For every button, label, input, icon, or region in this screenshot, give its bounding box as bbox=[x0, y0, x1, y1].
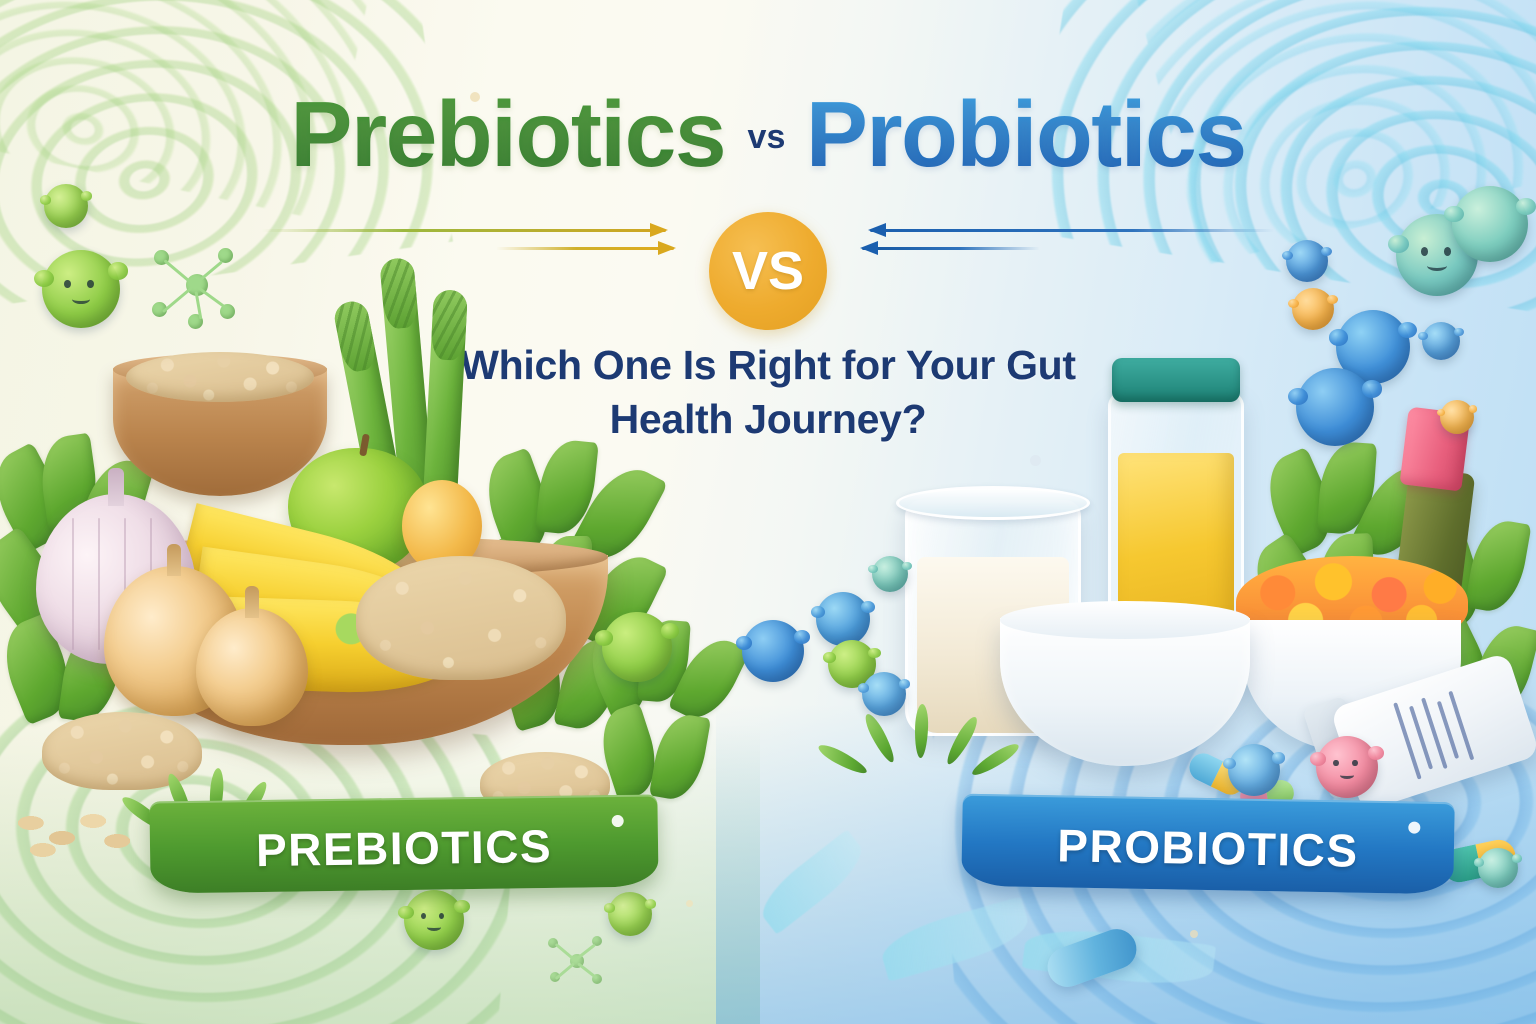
kefir-jar bbox=[905, 500, 1081, 736]
kimchi-contents bbox=[1236, 556, 1468, 648]
infographic-poster: Prebiotics vs Probiotics VS Which One Is… bbox=[0, 0, 1536, 1024]
vs-badge-label: VS bbox=[732, 240, 804, 302]
oats-mound-in-bowl bbox=[356, 556, 566, 680]
microbe-face bbox=[1316, 736, 1378, 798]
arrow-right-lower bbox=[862, 247, 1040, 250]
yellow-fruit bbox=[402, 480, 482, 572]
versus-divider: VS bbox=[0, 200, 1536, 310]
supplement-bottle-lid bbox=[1302, 696, 1374, 801]
grain-mound-small bbox=[126, 352, 314, 402]
feather bbox=[877, 896, 1034, 982]
poster-headline: Prebiotics vs Probiotics bbox=[0, 88, 1536, 181]
garlic-bulb bbox=[36, 494, 196, 664]
speck bbox=[1030, 455, 1041, 466]
molecule-sprig bbox=[548, 932, 604, 988]
probiotics-banner: PROBIOTICS bbox=[961, 794, 1455, 895]
blue-microbe-character bbox=[742, 620, 804, 682]
teal-microbe-character bbox=[1478, 848, 1518, 888]
green-microbe-character bbox=[602, 612, 672, 682]
green-sprig-right bbox=[852, 696, 1002, 776]
prebiotics-banner: PREBIOTICS bbox=[149, 794, 658, 893]
green-apple bbox=[288, 448, 428, 574]
green-peas bbox=[330, 602, 462, 658]
banana bbox=[212, 596, 465, 696]
kefir-jar-rim bbox=[896, 486, 1090, 520]
leafy-greens-far-right bbox=[1420, 520, 1536, 750]
arrow-right-upper bbox=[870, 229, 1274, 232]
blue-microbe-character bbox=[862, 672, 906, 716]
oats-mound-left bbox=[42, 712, 202, 790]
onion bbox=[104, 566, 244, 716]
kimchi-bowl bbox=[1243, 620, 1461, 752]
blue-microbe-character bbox=[816, 592, 870, 646]
green-microbe-character bbox=[608, 892, 652, 936]
oat-flakes-scattered bbox=[14, 808, 134, 858]
kombucha-bottle-cap bbox=[1112, 358, 1240, 402]
leafy-greens-right bbox=[1258, 440, 1468, 720]
blue-microbe-character bbox=[1228, 744, 1280, 796]
speck bbox=[1190, 930, 1198, 938]
kombucha-bottle bbox=[1108, 392, 1244, 692]
feather bbox=[752, 829, 871, 934]
wooden-bowl bbox=[88, 555, 608, 745]
probiotics-banner-label: PROBIOTICS bbox=[1057, 818, 1359, 877]
arrow-left-lower bbox=[496, 247, 674, 250]
yogurt-surface bbox=[1012, 612, 1238, 646]
headline-probiotics: Probiotics bbox=[806, 88, 1246, 181]
small-grain-bowl bbox=[113, 368, 327, 496]
blue-microbe-character bbox=[1296, 368, 1374, 446]
leafy-greens-far-right-of-bowl bbox=[588, 620, 748, 820]
blue-capsule-on-wave bbox=[1042, 923, 1142, 992]
orange-microbe-character bbox=[1440, 400, 1474, 434]
green-microbe-character bbox=[404, 890, 464, 950]
yogurt-bowl bbox=[1000, 618, 1250, 766]
speck bbox=[630, 925, 639, 934]
blue-microbe-character bbox=[1336, 310, 1410, 384]
pink-microbe-character bbox=[1316, 736, 1378, 798]
poster-subtitle: Which One Is Right for Your Gut Health J… bbox=[448, 338, 1088, 446]
arrow-left-upper bbox=[262, 229, 666, 232]
prebiotics-banner-label: PREBIOTICS bbox=[256, 819, 553, 877]
vs-badge: VS bbox=[709, 212, 827, 330]
headline-vs-small: vs bbox=[748, 120, 786, 154]
leafy-greens-left bbox=[0, 430, 200, 730]
fermented-drink-bottle-cap bbox=[1399, 407, 1470, 492]
fermented-drink-bottle bbox=[1387, 467, 1476, 664]
capsule-pill bbox=[1185, 749, 1249, 800]
headline-prebiotics: Prebiotics bbox=[290, 88, 725, 181]
asparagus-spear bbox=[332, 299, 406, 516]
green-microbe-character bbox=[828, 640, 876, 688]
teal-microbe-character bbox=[872, 556, 908, 592]
leafy-greens-center-left bbox=[470, 440, 690, 730]
shallot bbox=[196, 608, 308, 726]
speck bbox=[686, 900, 693, 907]
feather bbox=[1022, 923, 1216, 992]
banana bbox=[189, 546, 450, 676]
microbe-face bbox=[404, 890, 464, 950]
blue-microbe-character bbox=[1422, 322, 1460, 360]
supplement-bottle bbox=[1330, 652, 1536, 812]
banana bbox=[175, 503, 439, 649]
